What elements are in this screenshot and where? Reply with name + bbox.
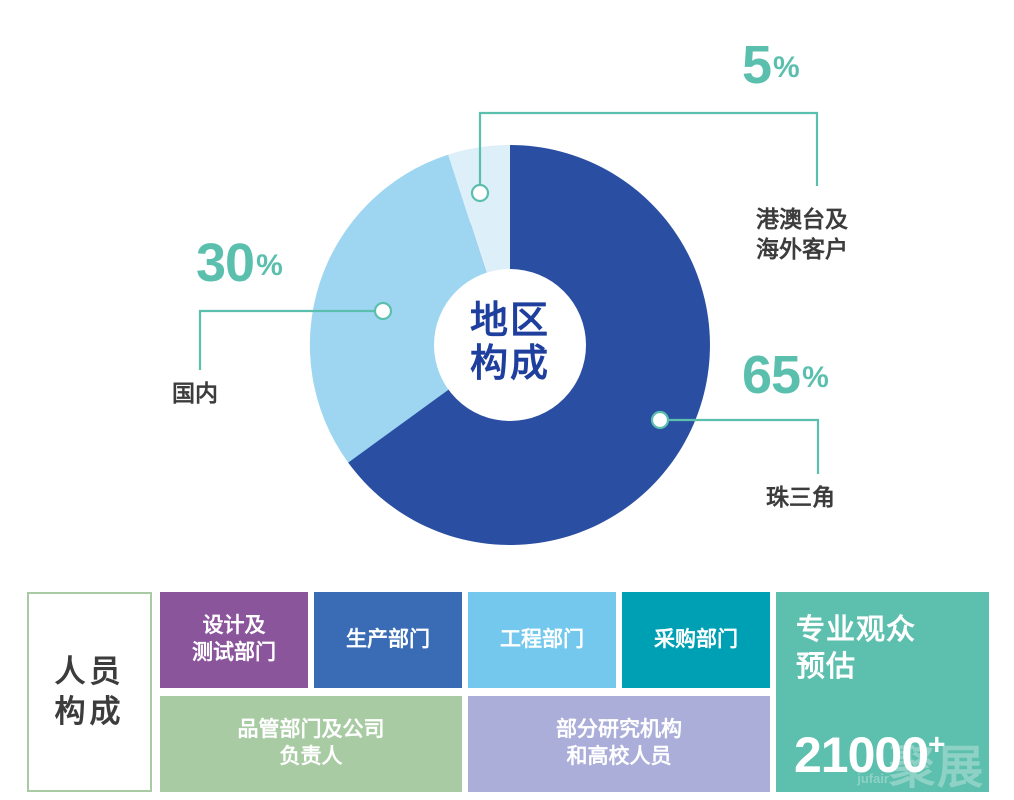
- label-domestic: 国内: [172, 378, 218, 408]
- percent-domestic-symbol: %: [256, 249, 282, 282]
- staff-cell-purchasing[interactable]: 采购部门: [622, 592, 770, 688]
- staff-composition-section: 人员 构成 设计及 测试部门 生产部门 工程部门 采购部门 品管部门及公司 负责…: [27, 592, 989, 794]
- percent-overseas-value: 5: [742, 35, 771, 95]
- staff-cell-research[interactable]: 部分研究机构 和高校人员: [468, 696, 770, 792]
- visitors-count: 21000+: [794, 730, 945, 780]
- visitors-title-line1: 专业观众: [796, 612, 916, 649]
- percent-prd-symbol: %: [802, 361, 828, 394]
- leader-dot-overseas: [472, 185, 488, 201]
- label-overseas-line1: 港澳台及: [756, 204, 848, 234]
- donut-center-label: 地区 构成: [410, 300, 610, 385]
- staff-cell-purchasing-label: 采购部门: [654, 627, 738, 654]
- label-overseas: 港澳台及 海外客户: [756, 204, 848, 265]
- professional-visitors-panel[interactable]: 专业观众 预估 21000+ jufair聚展: [776, 592, 989, 792]
- visitors-count-suffix: +: [928, 728, 945, 761]
- percent-prd: 65%: [742, 348, 828, 402]
- visitors-title-line2: 预估: [796, 649, 916, 686]
- staff-cell-research-line1: 部分研究机构: [556, 717, 682, 744]
- staff-cell-engineering-label: 工程部门: [500, 627, 584, 654]
- staff-cell-design-line2: 测试部门: [192, 640, 276, 667]
- percent-domestic-value: 30: [196, 233, 254, 293]
- staff-title-line1: 人员: [55, 652, 125, 692]
- staff-cell-quality-line1: 品管部门及公司: [238, 717, 385, 744]
- leader-dot-domestic: [375, 303, 391, 319]
- visitors-count-value: 21000: [794, 727, 928, 783]
- center-label-line1: 地区: [410, 300, 610, 343]
- label-overseas-line2: 海外客户: [756, 234, 848, 264]
- staff-cell-engineering[interactable]: 工程部门: [468, 592, 616, 688]
- percent-domestic: 30%: [196, 236, 282, 290]
- staff-title-line2: 构成: [55, 692, 125, 732]
- percent-overseas-symbol: %: [773, 51, 799, 84]
- visitors-title: 专业观众 预估: [796, 612, 916, 686]
- staff-cell-design-line1: 设计及: [192, 613, 276, 640]
- staff-composition-title-box: 人员 构成: [27, 592, 152, 792]
- center-label-line2: 构成: [410, 343, 610, 386]
- percent-overseas: 5%: [742, 38, 799, 92]
- staff-cell-quality-line2: 负责人: [238, 744, 385, 771]
- staff-cell-production-label: 生产部门: [346, 627, 430, 654]
- percent-prd-value: 65: [742, 345, 800, 405]
- leader-dot-prd: [652, 412, 668, 428]
- staff-cell-quality[interactable]: 品管部门及公司 负责人: [160, 696, 462, 792]
- staff-cell-research-line2: 和高校人员: [556, 744, 682, 771]
- label-prd: 珠三角: [766, 482, 835, 512]
- staff-cell-production[interactable]: 生产部门: [314, 592, 462, 688]
- staff-cell-design[interactable]: 设计及 测试部门: [160, 592, 308, 688]
